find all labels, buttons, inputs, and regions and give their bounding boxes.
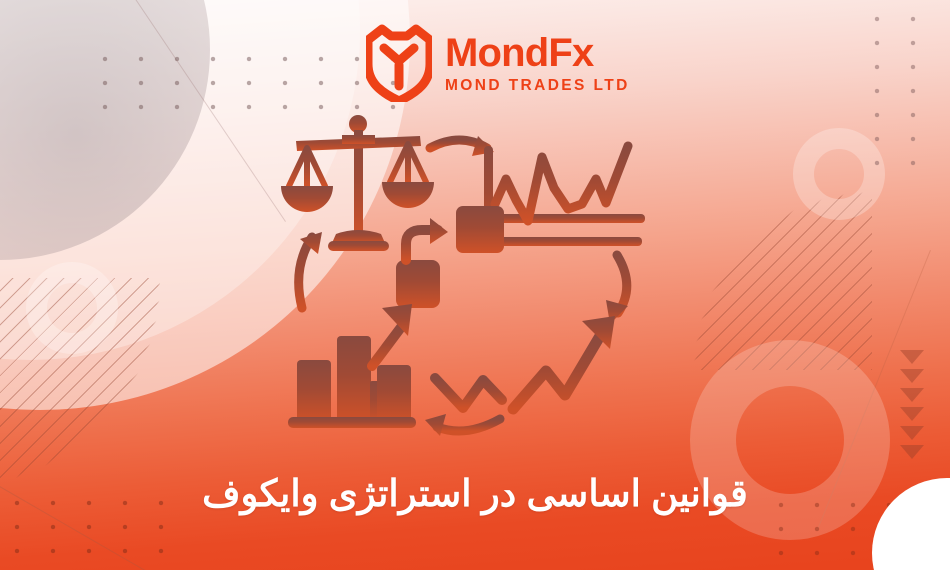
logo-wordmark: MondFx MOND TRADES LTD — [445, 33, 630, 94]
curved-arrow-up-icon — [299, 232, 322, 308]
brand-logo: MondFx MOND TRADES LTD — [366, 24, 630, 102]
trading-strategy-illustration — [280, 108, 660, 453]
soft-circle-top-left — [0, 0, 210, 260]
triangle-down-icon — [900, 350, 924, 364]
zigzag-up-arrow-icon — [513, 316, 615, 409]
shield-checkmark-logo-icon — [366, 24, 432, 102]
logo-brand-text: MondFx — [445, 33, 630, 73]
hairline-top-left — [95, 0, 286, 222]
bar-chart-icon — [288, 336, 416, 428]
curved-arrow-left-icon — [425, 414, 500, 436]
triangle-down-icon — [900, 445, 924, 459]
zigzag-down-arrow-icon — [435, 378, 502, 408]
triangle-down-icon — [900, 369, 924, 383]
triangle-down-icon — [900, 407, 924, 421]
rounded-square-block-icon — [456, 206, 504, 253]
curved-arrow-down-icon — [606, 255, 628, 324]
dot-grid-top-right — [856, 4, 940, 172]
ring-top-right — [793, 128, 885, 220]
logo-tagline-text: MOND TRADES LTD — [445, 78, 630, 94]
ring-bottom-left — [26, 262, 118, 354]
page-title: قوانین اساسی در استراتژی وایکوف — [0, 472, 950, 515]
diagonal-hatch-left — [0, 278, 160, 488]
triangle-down-icon — [900, 388, 924, 402]
padlock-icon — [396, 218, 448, 308]
chevron-down-triangles — [900, 350, 924, 464]
diagonal-hatch-right — [672, 170, 872, 370]
small-up-arrow-icon — [372, 304, 412, 366]
promo-banner: MondFx MOND TRADES LTD — [0, 0, 950, 570]
triangle-down-icon — [900, 426, 924, 440]
line-chart-icon — [484, 146, 645, 246]
